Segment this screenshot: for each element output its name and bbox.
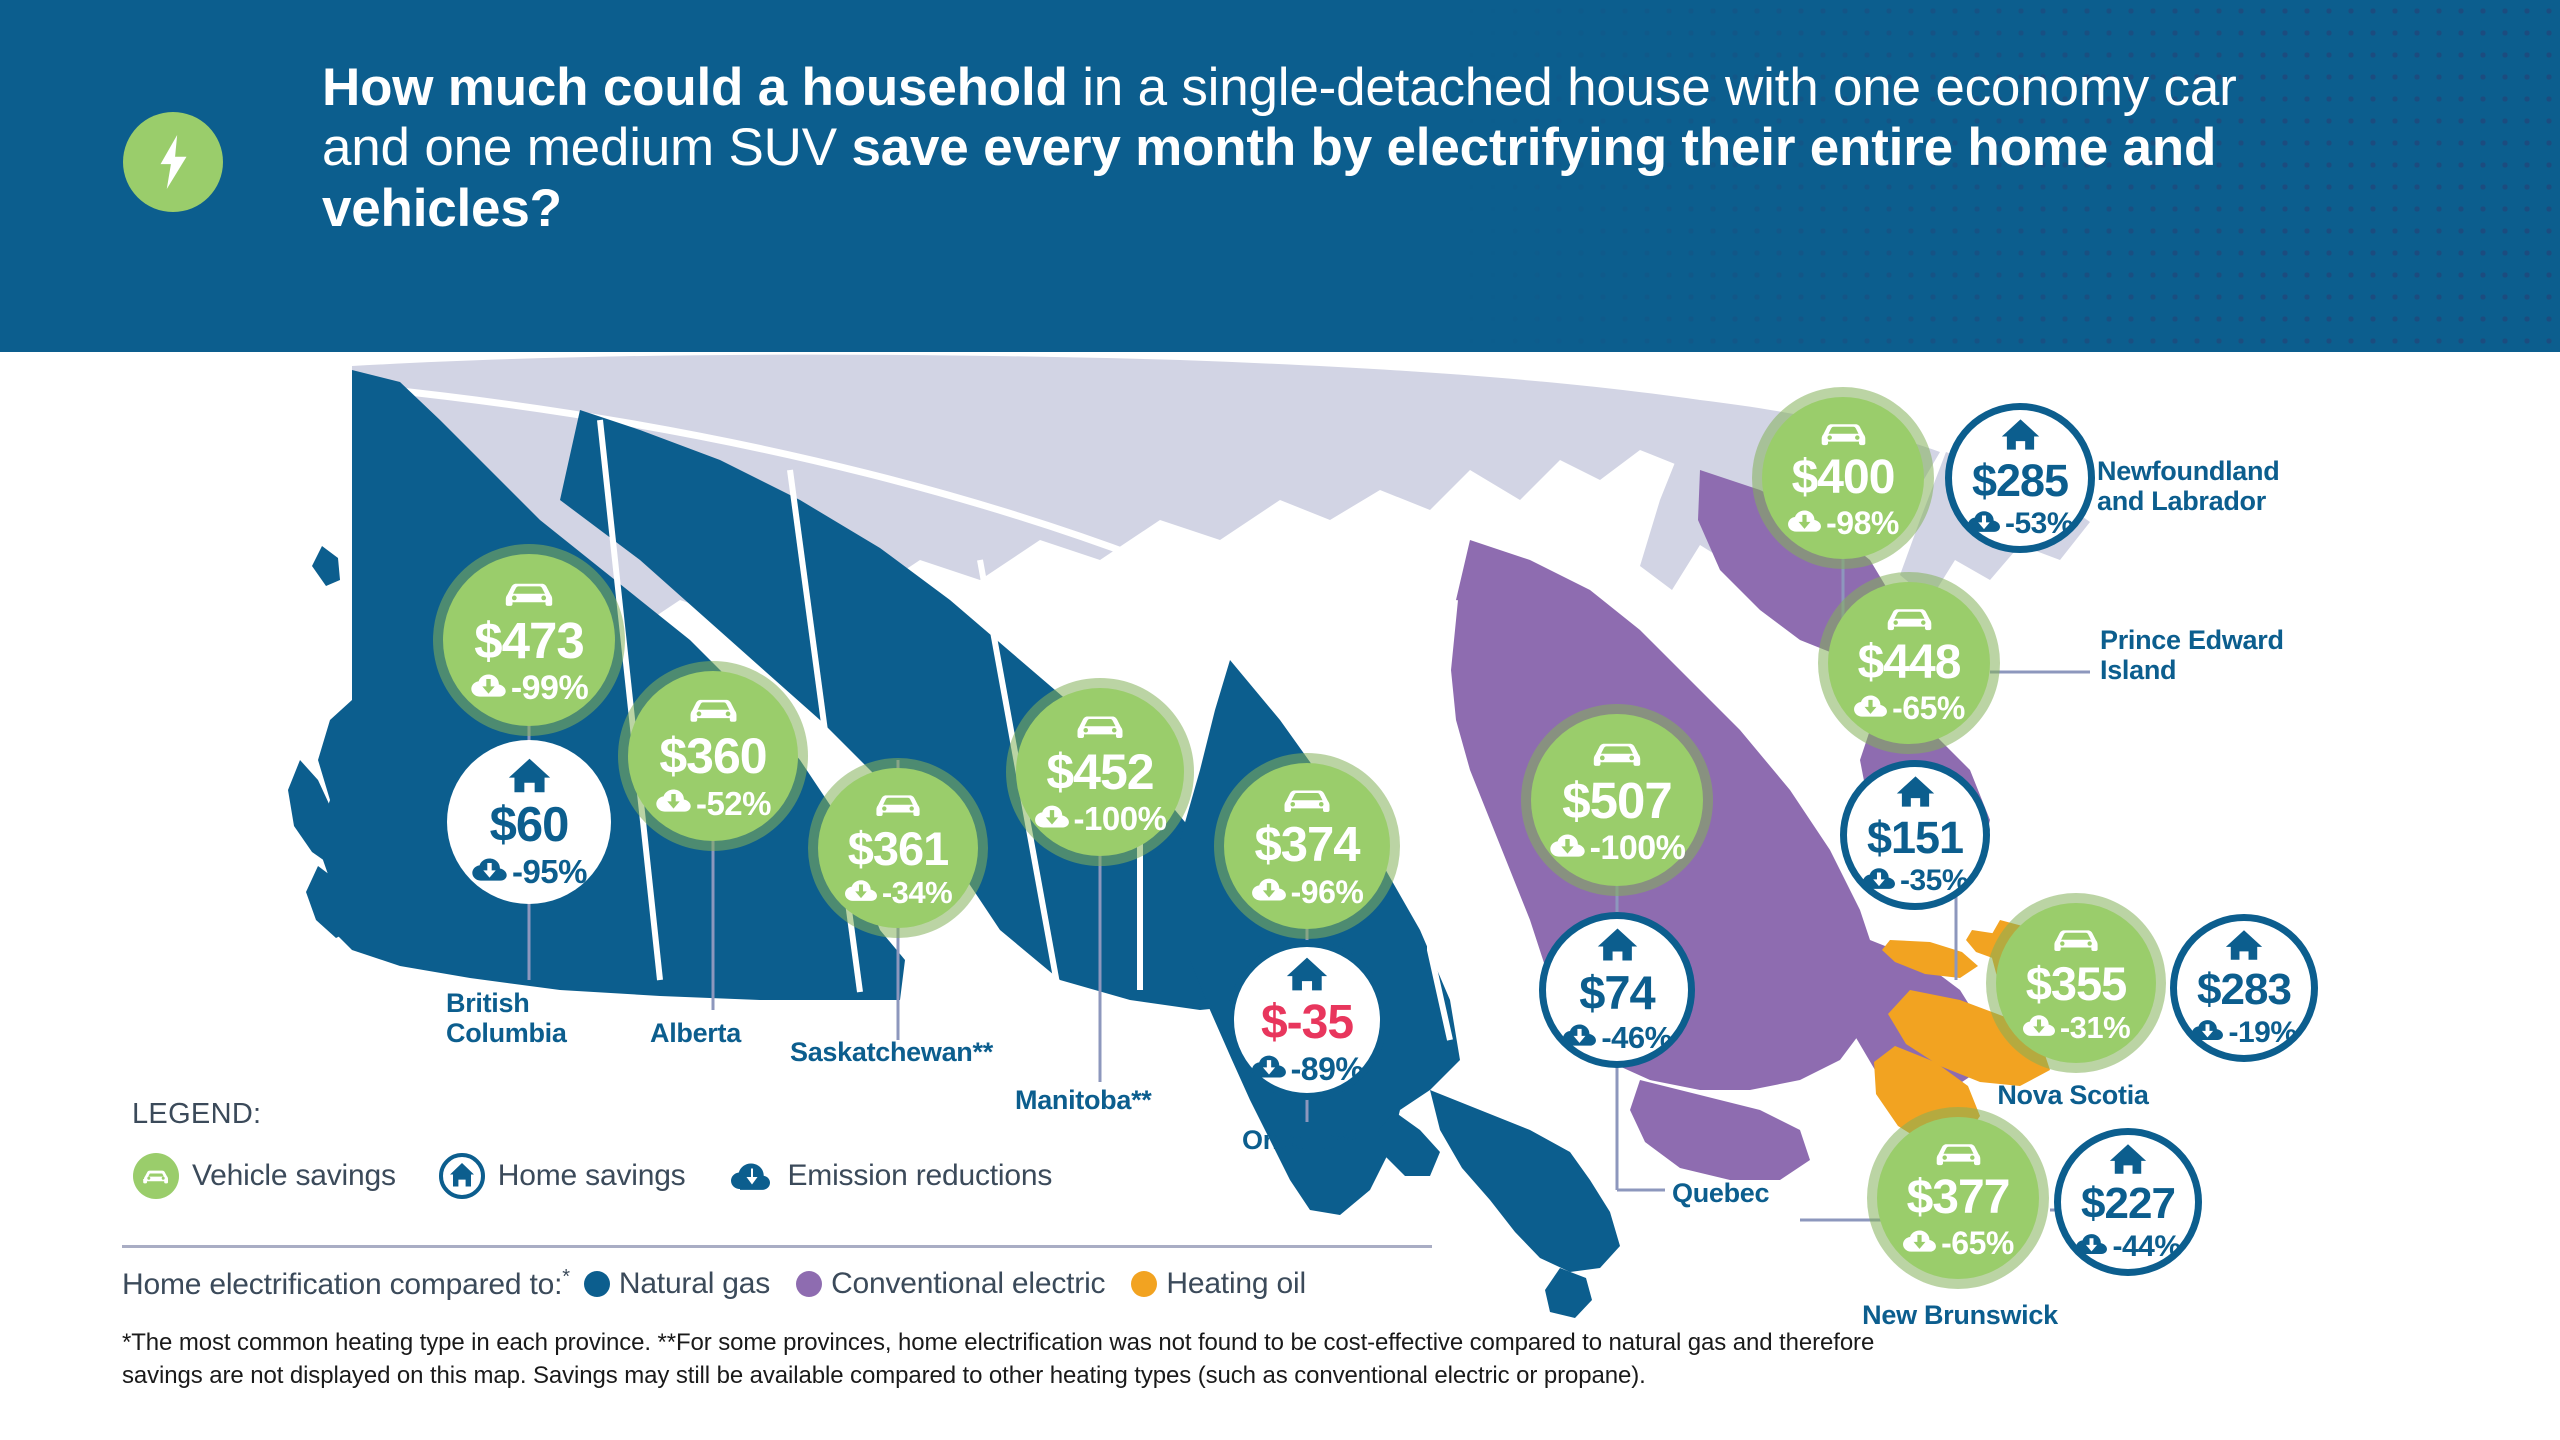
cloud-down-arrow-icon <box>1251 875 1287 909</box>
heating-option-conventional-electric: Conventional electric <box>796 1267 1105 1301</box>
heating-option-natural-gas: Natural gas <box>584 1267 770 1301</box>
car-icon <box>1819 417 1868 453</box>
home-savings-bubble-quebec: $74-46% <box>1539 912 1695 1068</box>
heating-option-label: Heating oil <box>1166 1267 1306 1301</box>
home-savings-bubble-nova-scotia: $283-19% <box>2170 914 2318 1062</box>
heating-comparison-label: Home electrification compared to:* <box>122 1266 570 1302</box>
province-label-prince-edward-island: Prince Edward Island <box>2100 625 2284 685</box>
house-icon <box>2109 1142 2147 1181</box>
house-icon <box>1896 774 1935 814</box>
cloud-down-arrow-icon <box>2191 1017 2224 1048</box>
house-icon <box>2001 417 2040 457</box>
home-savings-bubble-newfoundland-and-labrador: $285-53% <box>1945 403 2095 553</box>
legend-divider <box>122 1245 1432 1248</box>
vehicle-savings-bubble-saskatchewan: $361-34% <box>818 768 978 928</box>
vehicle-savings-amount: $473 <box>474 615 583 666</box>
vehicle-emission-reduction: -65% <box>1941 1227 2014 1259</box>
car-icon <box>2052 923 2100 959</box>
vehicle-savings-amount: $374 <box>1254 821 1359 870</box>
vehicle-savings-bubble-newfoundland-and-labrador: $400-98% <box>1762 397 1924 559</box>
car-icon <box>1934 1137 1983 1173</box>
vehicle-savings-bubble-alberta: $360-52% <box>628 671 798 841</box>
home-savings-amount: $-35 <box>1261 999 1353 1047</box>
province-label-manitoba: Manitoba** <box>1015 1085 1152 1115</box>
cloud-down-arrow-icon <box>2075 1231 2108 1262</box>
home-savings-bubble-british-columbia: $60-95% <box>447 740 611 904</box>
cloud-down-arrow-icon <box>1034 802 1070 836</box>
heating-oil-color-swatch <box>1131 1271 1157 1297</box>
home-emission-reduction: -95% <box>512 855 587 888</box>
vehicle-savings-amount: $360 <box>659 731 766 781</box>
house-icon <box>508 756 551 800</box>
cloud-down-arrow-icon <box>1251 1052 1287 1086</box>
vehicle-savings-bubble-quebec: $507-100% <box>1531 714 1703 886</box>
heating-option-label: Natural gas <box>619 1267 770 1301</box>
house-icon <box>438 1152 486 1200</box>
legend-item-emission-reductions: Emission reductions <box>727 1155 1052 1197</box>
legend-item-home-savings: Home savings <box>438 1152 686 1200</box>
province-label-ontario: Ontario** <box>1242 1125 1356 1155</box>
province-label-alberta: Alberta <box>650 1018 741 1048</box>
home-savings-amount: $285 <box>1972 458 2068 503</box>
vehicle-savings-bubble-nova-scotia: $355-31% <box>1996 903 2156 1063</box>
province-label-quebec: Quebec <box>1672 1178 1769 1208</box>
car-icon <box>1282 783 1332 820</box>
home-emission-reduction: -53% <box>2005 509 2073 539</box>
car-icon <box>503 576 555 614</box>
cloud-down-arrow-icon <box>1967 508 2001 540</box>
cloud-down-arrow-icon <box>655 786 692 820</box>
home-savings-amount: $151 <box>1867 815 1963 860</box>
house-icon <box>1597 926 1638 968</box>
car-icon <box>1075 709 1125 746</box>
car-icon <box>1591 736 1643 774</box>
vehicle-savings-bubble-prince-edward-island: $448-65% <box>1828 582 1990 744</box>
infographic-root: How much could a household in a single-d… <box>0 0 2560 1440</box>
home-emission-reduction: -35% <box>1900 866 1968 896</box>
house-icon <box>1286 955 1328 998</box>
legend-item-vehicle-savings: Vehicle savings <box>132 1152 396 1200</box>
home-savings-amount: $74 <box>1579 969 1654 1016</box>
vehicle-savings-amount: $361 <box>848 825 949 872</box>
cloud-down-arrow-icon <box>1787 507 1822 540</box>
vehicle-emission-reduction: -65% <box>1892 692 1965 724</box>
vehicle-savings-amount: $507 <box>1562 775 1671 826</box>
conventional-electric-color-swatch <box>796 1271 822 1297</box>
vehicle-emission-reduction: -31% <box>2060 1012 2130 1043</box>
cloud-down-arrow-icon <box>844 877 878 909</box>
car-icon <box>1885 602 1934 638</box>
vehicle-emission-reduction: -96% <box>1291 876 1364 908</box>
heating-option-label: Conventional electric <box>831 1267 1105 1301</box>
home-savings-bubble-new-brunswick: $227-44% <box>2054 1128 2202 1276</box>
legend-item-label: Home savings <box>498 1159 686 1193</box>
vehicle-savings-amount: $355 <box>2026 960 2127 1007</box>
cloud-down-arrow-icon <box>1853 692 1888 725</box>
footnote-text: *The most common heating type in each pr… <box>122 1326 1912 1392</box>
home-savings-amount: $227 <box>2081 1182 2175 1226</box>
vehicle-savings-amount: $400 <box>1792 454 1895 502</box>
legend-item-label: Vehicle savings <box>192 1159 396 1193</box>
heating-option-heating-oil: Heating oil <box>1131 1267 1306 1301</box>
vehicle-emission-reduction: -52% <box>696 787 771 820</box>
vehicle-savings-amount: $452 <box>1046 747 1153 797</box>
legend-items: Vehicle savings Home savings Emission re… <box>132 1152 1094 1200</box>
vehicle-savings-bubble-manitoba: $452-100% <box>1016 688 1184 856</box>
province-label-newfoundland-and-labrador: Newfoundland and Labrador <box>2097 456 2279 516</box>
home-savings-bubble-ontario: $-35-89% <box>1227 940 1387 1100</box>
province-label-nova-scotia: Nova Scotia <box>1873 1080 2273 1110</box>
vehicle-savings-bubble-new-brunswick: $377-65% <box>1877 1117 2039 1279</box>
cloud-down-arrow-icon <box>727 1155 775 1197</box>
house-icon <box>2225 928 2263 967</box>
vehicle-savings-amount: $448 <box>1858 639 1961 687</box>
car-icon <box>688 692 739 730</box>
cloud-down-arrow-icon <box>2022 1012 2056 1044</box>
province-label-saskatchewan: Saskatchewan** <box>790 1037 993 1067</box>
natural-gas-color-swatch <box>584 1271 610 1297</box>
legend-item-label: Emission reductions <box>787 1159 1052 1193</box>
vehicle-emission-reduction: -98% <box>1826 507 1899 539</box>
home-emission-reduction: -44% <box>2112 1232 2180 1262</box>
vehicle-emission-reduction: -34% <box>882 877 952 908</box>
vehicle-emission-reduction: -100% <box>1074 802 1167 835</box>
legend-title: LEGEND: <box>132 1098 261 1131</box>
cloud-down-arrow-icon <box>1562 1021 1597 1054</box>
cloud-down-arrow-icon <box>1549 831 1586 865</box>
home-emission-reduction: -46% <box>1601 1022 1671 1053</box>
car-icon <box>874 788 922 824</box>
vehicle-emission-reduction: -100% <box>1590 831 1686 865</box>
cloud-down-arrow-icon <box>471 855 508 889</box>
cloud-down-arrow-icon <box>1902 1227 1937 1260</box>
cloud-down-arrow-icon <box>470 671 507 705</box>
home-savings-amount: $60 <box>490 801 569 850</box>
vehicle-emission-reduction: -99% <box>511 671 588 705</box>
vehicle-savings-bubble-british-columbia: $473-99% <box>443 554 615 726</box>
car-icon <box>132 1152 180 1200</box>
vehicle-savings-amount: $377 <box>1907 1174 2010 1222</box>
home-savings-bubble-prince-edward-island: $151-35% <box>1840 760 1990 910</box>
vehicle-savings-bubble-ontario: $374-96% <box>1224 763 1390 929</box>
home-savings-amount: $283 <box>2197 968 2291 1012</box>
home-emission-reduction: -19% <box>2228 1018 2296 1048</box>
home-emission-reduction: -89% <box>1291 1053 1364 1085</box>
cloud-down-arrow-icon <box>1862 865 1896 897</box>
heating-comparison-legend: Home electrification compared to:* Natur… <box>122 1266 1332 1302</box>
province-label-british-columbia: British Columbia <box>446 988 567 1048</box>
